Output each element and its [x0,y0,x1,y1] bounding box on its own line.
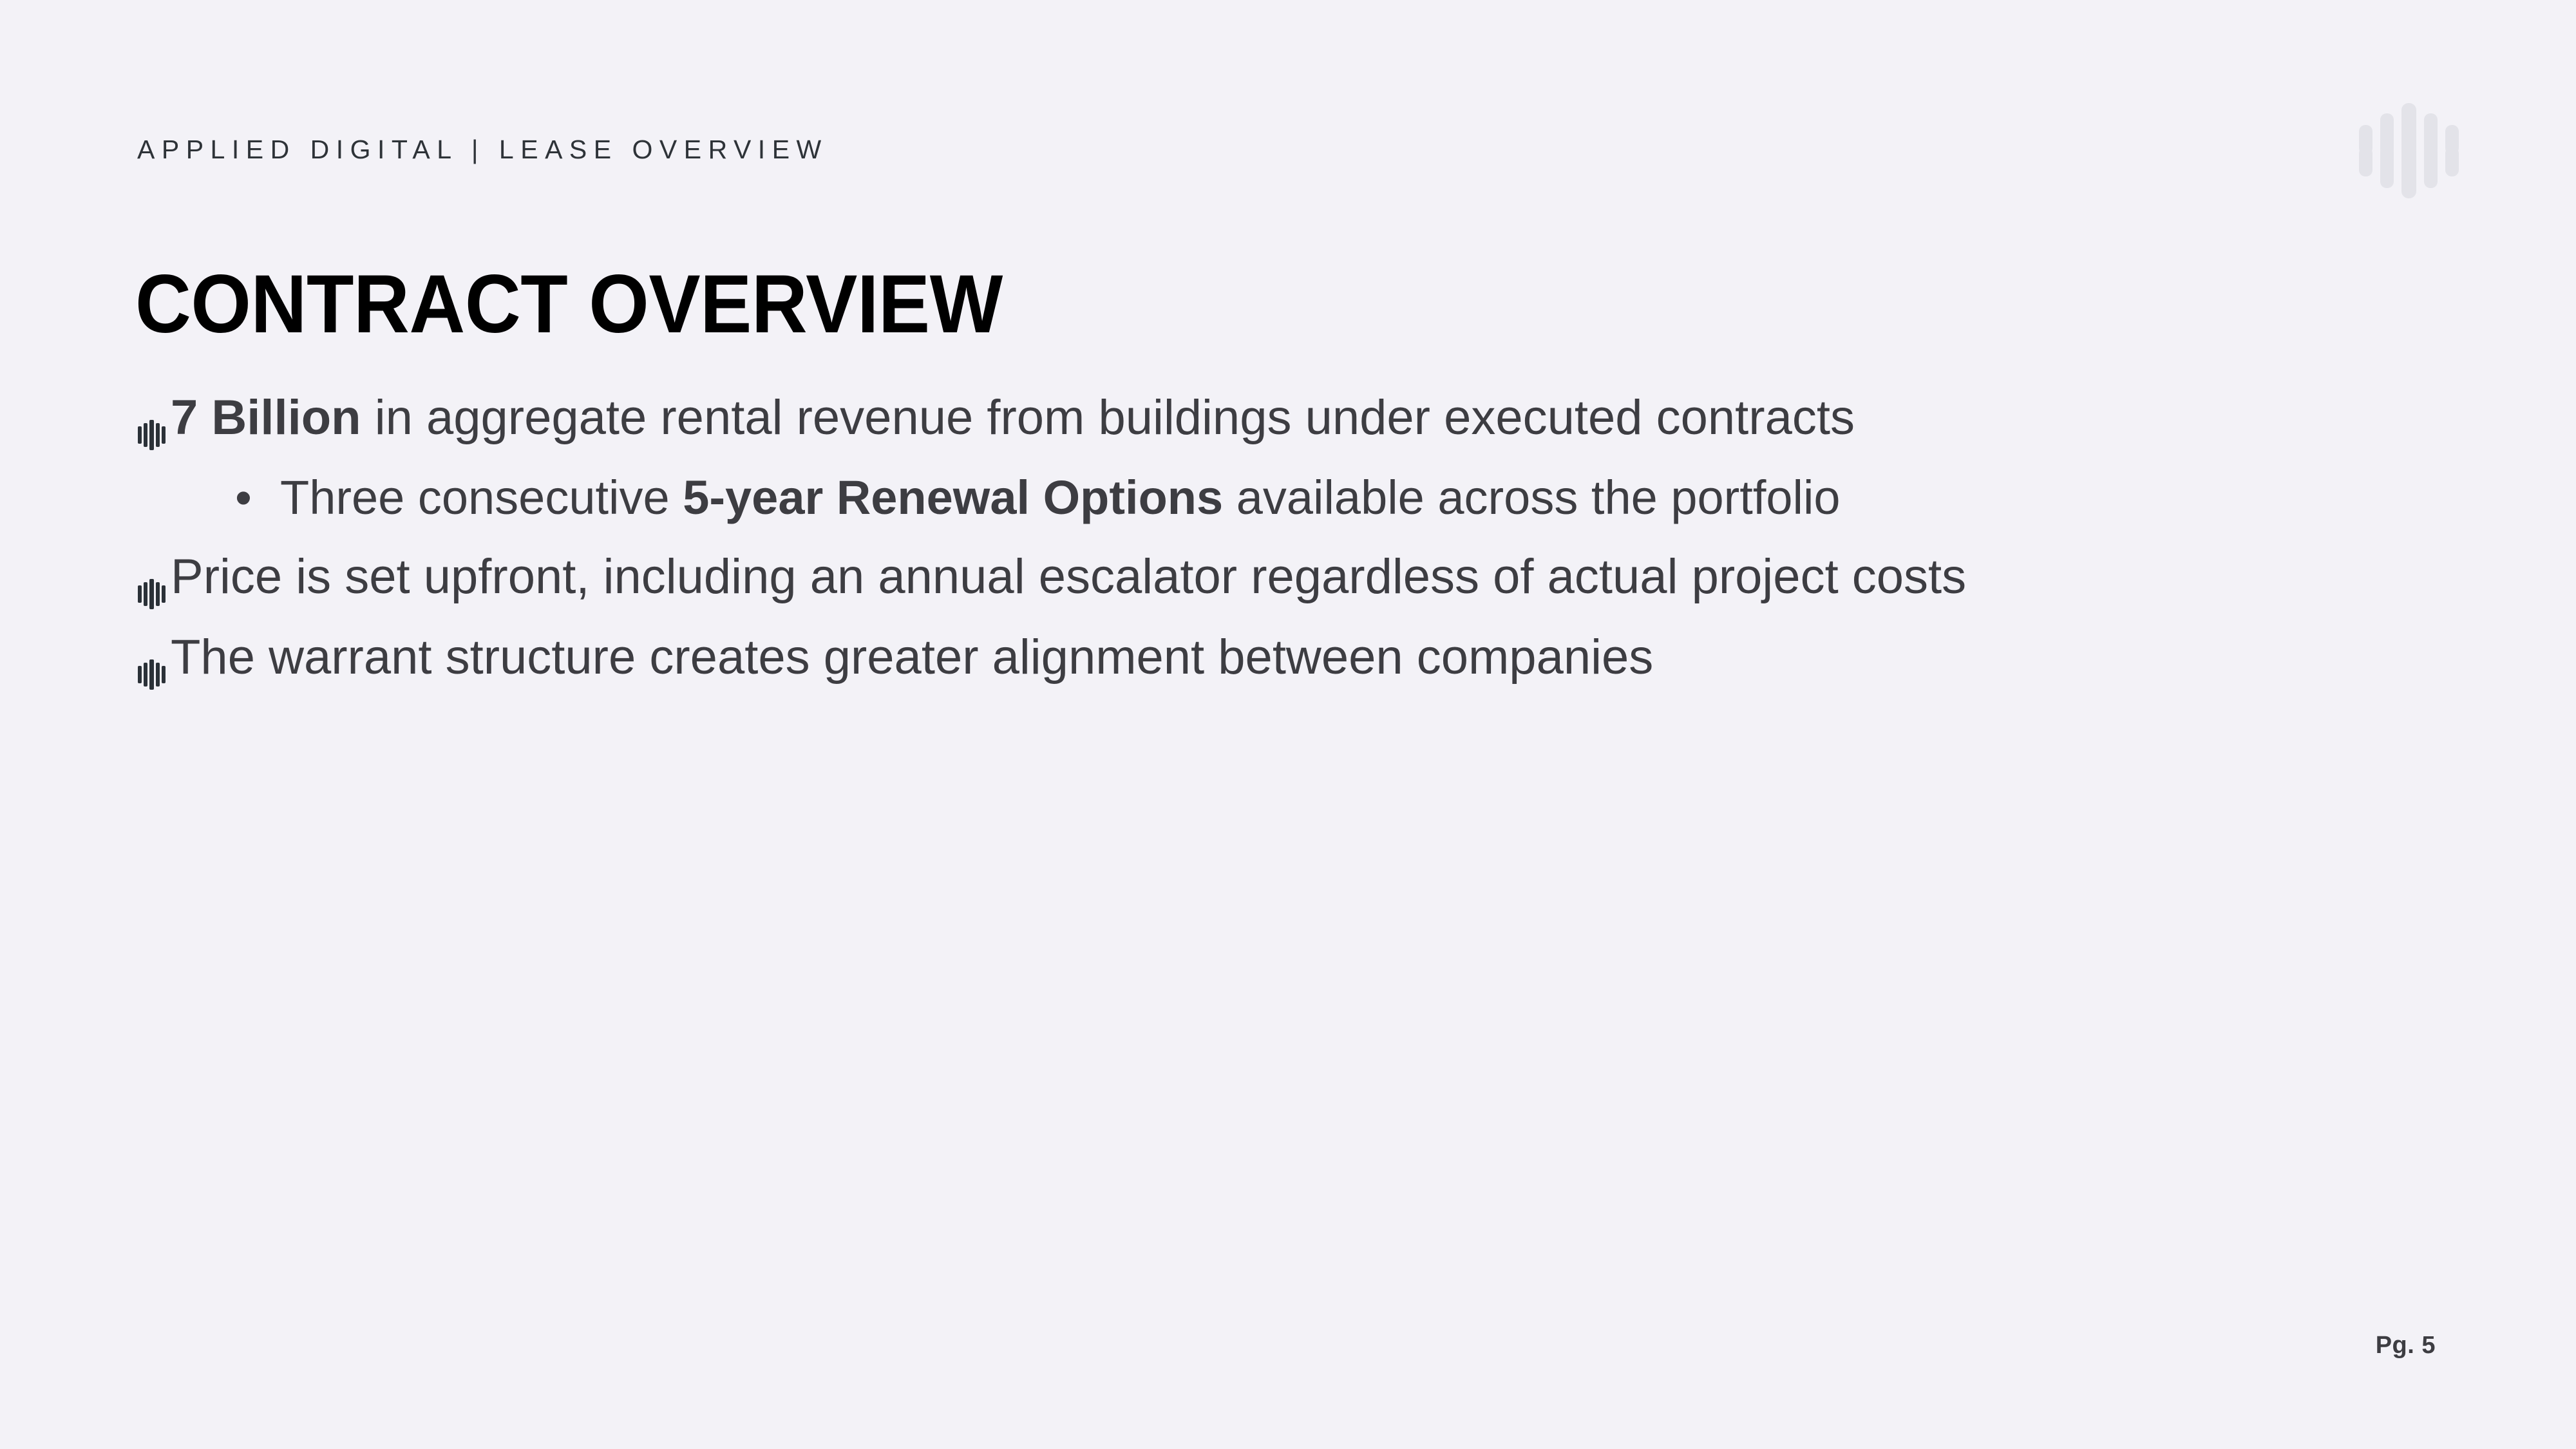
page-number: Pg. 5 [2376,1332,2436,1359]
page-title: CONTRACT OVERVIEW [135,261,1003,348]
list-item-text: Price is set upfront, including an annua… [171,545,2430,609]
applied-digital-bullet-glyph-icon [137,403,166,437]
bullet-list: 7 Billion in aggregate rental revenue fr… [137,386,2430,706]
dot-bullet-icon: • [235,467,265,529]
list-item: • Three consecutive 5-year Renewal Optio… [137,467,2430,529]
slide-eyebrow: APPLIED DIGITAL | LEASE OVERVIEW [137,137,828,163]
list-item: 7 Billion in aggregate rental revenue fr… [137,386,2430,450]
list-item-text: 7 Billion in aggregate rental revenue fr… [171,386,2430,450]
list-item: The warrant structure creates greater al… [137,626,2430,690]
list-item-text: The warrant structure creates greater al… [171,626,2430,690]
applied-digital-logo [2354,97,2463,203]
applied-digital-bullet-glyph-icon [137,643,166,676]
applied-digital-bullet-glyph-icon [137,562,166,596]
list-item: Price is set upfront, including an annua… [137,545,2430,609]
slide-canvas: APPLIED DIGITAL | LEASE OVERVIEW CONTRAC… [0,0,2576,1449]
list-item-text: Three consecutive 5-year Renewal Options… [280,467,2430,529]
